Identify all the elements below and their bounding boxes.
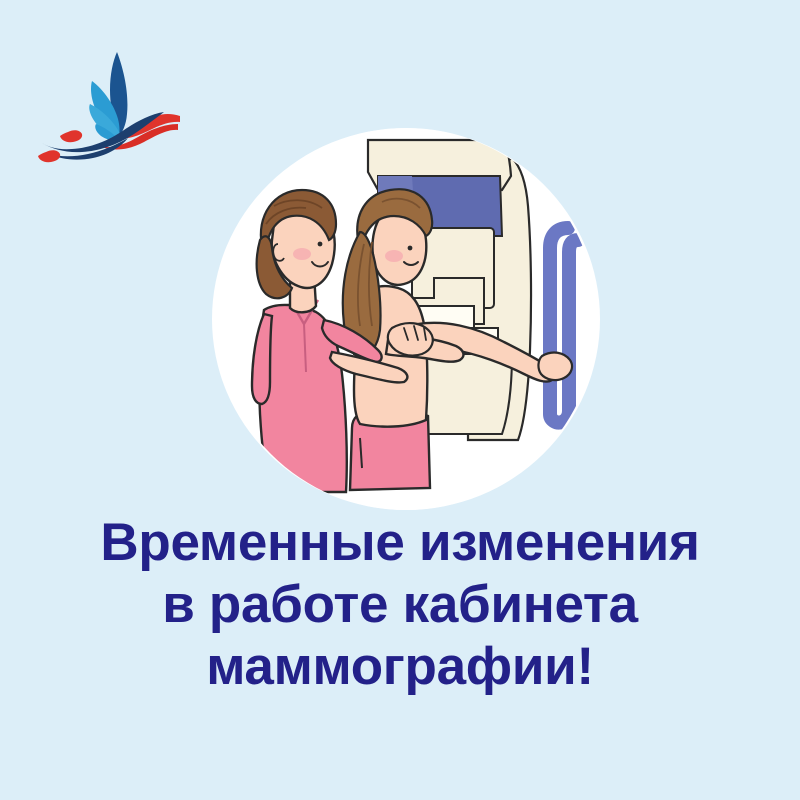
flying-bird-crane-logo [32, 48, 182, 178]
headline-line-2: в работе кабинета [0, 574, 800, 636]
machine-handle-bar[interactable] [550, 228, 578, 423]
nurse-eye [318, 242, 323, 247]
logo-svg [32, 48, 182, 178]
foot-red-upper [60, 130, 82, 142]
patient-cheek-blush [385, 250, 403, 262]
poster-canvas: Временные изменения в работе кабинета ма… [0, 0, 800, 800]
headline-text-block: Временные изменения в работе кабинета ма… [0, 512, 800, 698]
headline-line-3: маммографии! [0, 636, 800, 698]
illustration-circle-backdrop [212, 128, 600, 510]
foot-red-lower [38, 150, 60, 162]
mammography-examination-illustration [212, 128, 600, 510]
patient-eye [408, 246, 413, 251]
nurse-cheek-blush [293, 248, 311, 260]
headline-line-1: Временные изменения [0, 512, 800, 574]
illustration-svg [212, 128, 600, 510]
patient-right-hand [538, 353, 572, 381]
